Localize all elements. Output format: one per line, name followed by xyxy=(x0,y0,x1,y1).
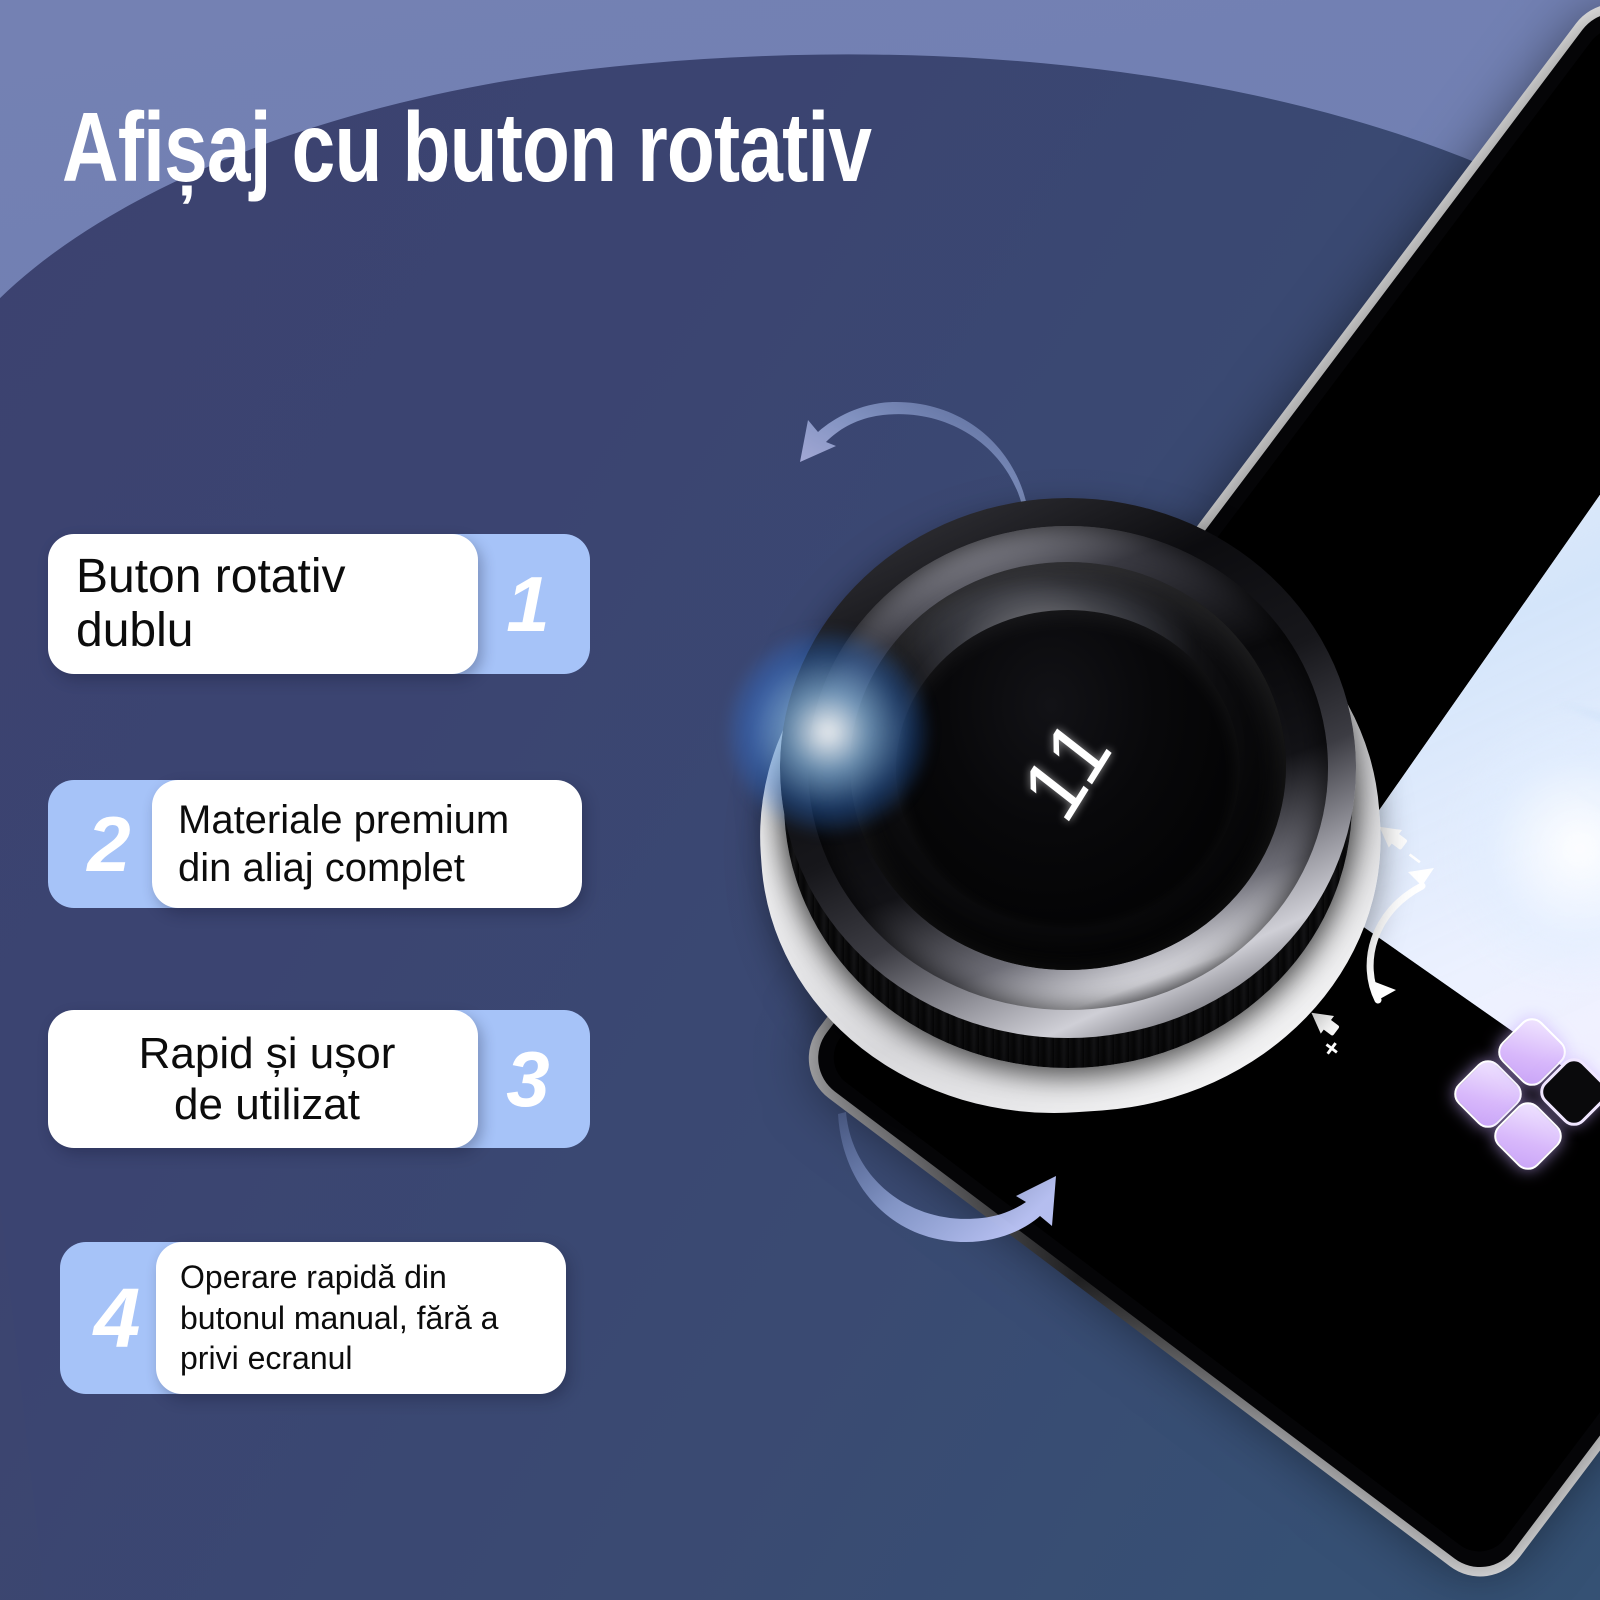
feature-text-3: Rapid și ușor de utilizat xyxy=(48,1010,478,1148)
feature-card-1[interactable]: Buton rotativ dublu 1 xyxy=(48,534,590,674)
feature-4-line-3: privi ecranul xyxy=(180,1338,548,1379)
knob-glow-hotspot xyxy=(728,632,928,832)
poster-stage: Afișaj cu buton rotativ – + xyxy=(0,0,1600,1600)
feature-text-2: Materiale premium din aliaj complet xyxy=(152,780,582,908)
knob-display-face: 11 xyxy=(896,610,1240,928)
feature-2-line-1: Materiale premium xyxy=(178,796,560,844)
feature-2-line-2: din aliaj complet xyxy=(178,844,560,892)
feature-4-line-1: Operare rapidă din xyxy=(180,1257,548,1298)
page-title: Afișaj cu buton rotativ xyxy=(62,96,871,199)
rotary-knob[interactable]: 11 xyxy=(768,492,1368,1092)
rotate-clockwise-arrow xyxy=(830,1108,1100,1268)
feature-card-3[interactable]: Rapid și ușor de utilizat 3 xyxy=(48,1010,590,1148)
feature-3-line-2: de utilizat xyxy=(76,1079,458,1130)
feature-card-2[interactable]: 2 Materiale premium din aliaj complet xyxy=(48,780,582,908)
feature-4-line-2: butonul manual, fără a xyxy=(180,1298,548,1339)
knob-display-value: 11 xyxy=(1004,699,1132,839)
feature-card-4[interactable]: 4 Operare rapidă din butonul manual, făr… xyxy=(60,1242,566,1394)
feature-1-line-1: Buton rotativ xyxy=(76,550,458,604)
feature-1-line-2: dublu xyxy=(76,604,458,658)
feature-text-4: Operare rapidă din butonul manual, fără … xyxy=(156,1242,566,1394)
app-grid-diamond-icon xyxy=(1452,1024,1600,1174)
feature-3-line-1: Rapid și ușor xyxy=(76,1028,458,1079)
feature-text-1: Buton rotativ dublu xyxy=(48,534,478,674)
